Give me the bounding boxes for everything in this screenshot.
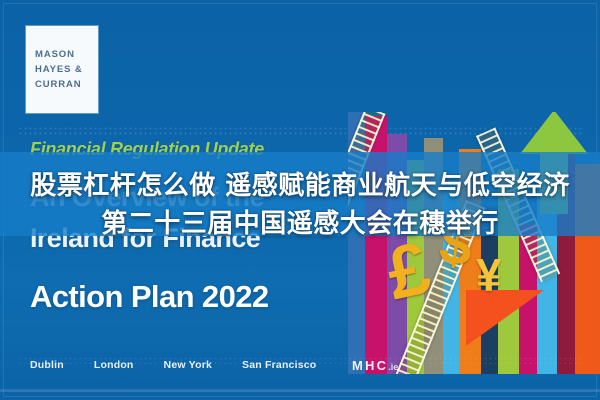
yen-symbol-icon: ¥: [476, 252, 502, 298]
poster-headline-line-3: Action Plan 2022: [30, 279, 269, 315]
mason-hayes-curran-logo: MASON HAYES & CURRAN: [26, 26, 98, 113]
overlay-headline-line-2: 第二十三届中国遥感大会在穗举行: [0, 203, 600, 240]
growth-arrow-icon: [520, 112, 588, 154]
overlay-headline-line-1: 股票杠杆怎么做 遥感赋能商业航天与低空经济: [0, 165, 600, 202]
poster-screenshot: £ $ ¥ MASON HAYES & CURRAN Financial Reg…: [0, 0, 600, 400]
logo-line-1: MASON: [35, 47, 98, 62]
dot-texture-bottom: [18, 356, 582, 364]
bottom-rule: [0, 389, 600, 392]
logo-line-3: CURRAN: [35, 77, 98, 92]
logo-line-2: HAYES &: [35, 62, 98, 77]
